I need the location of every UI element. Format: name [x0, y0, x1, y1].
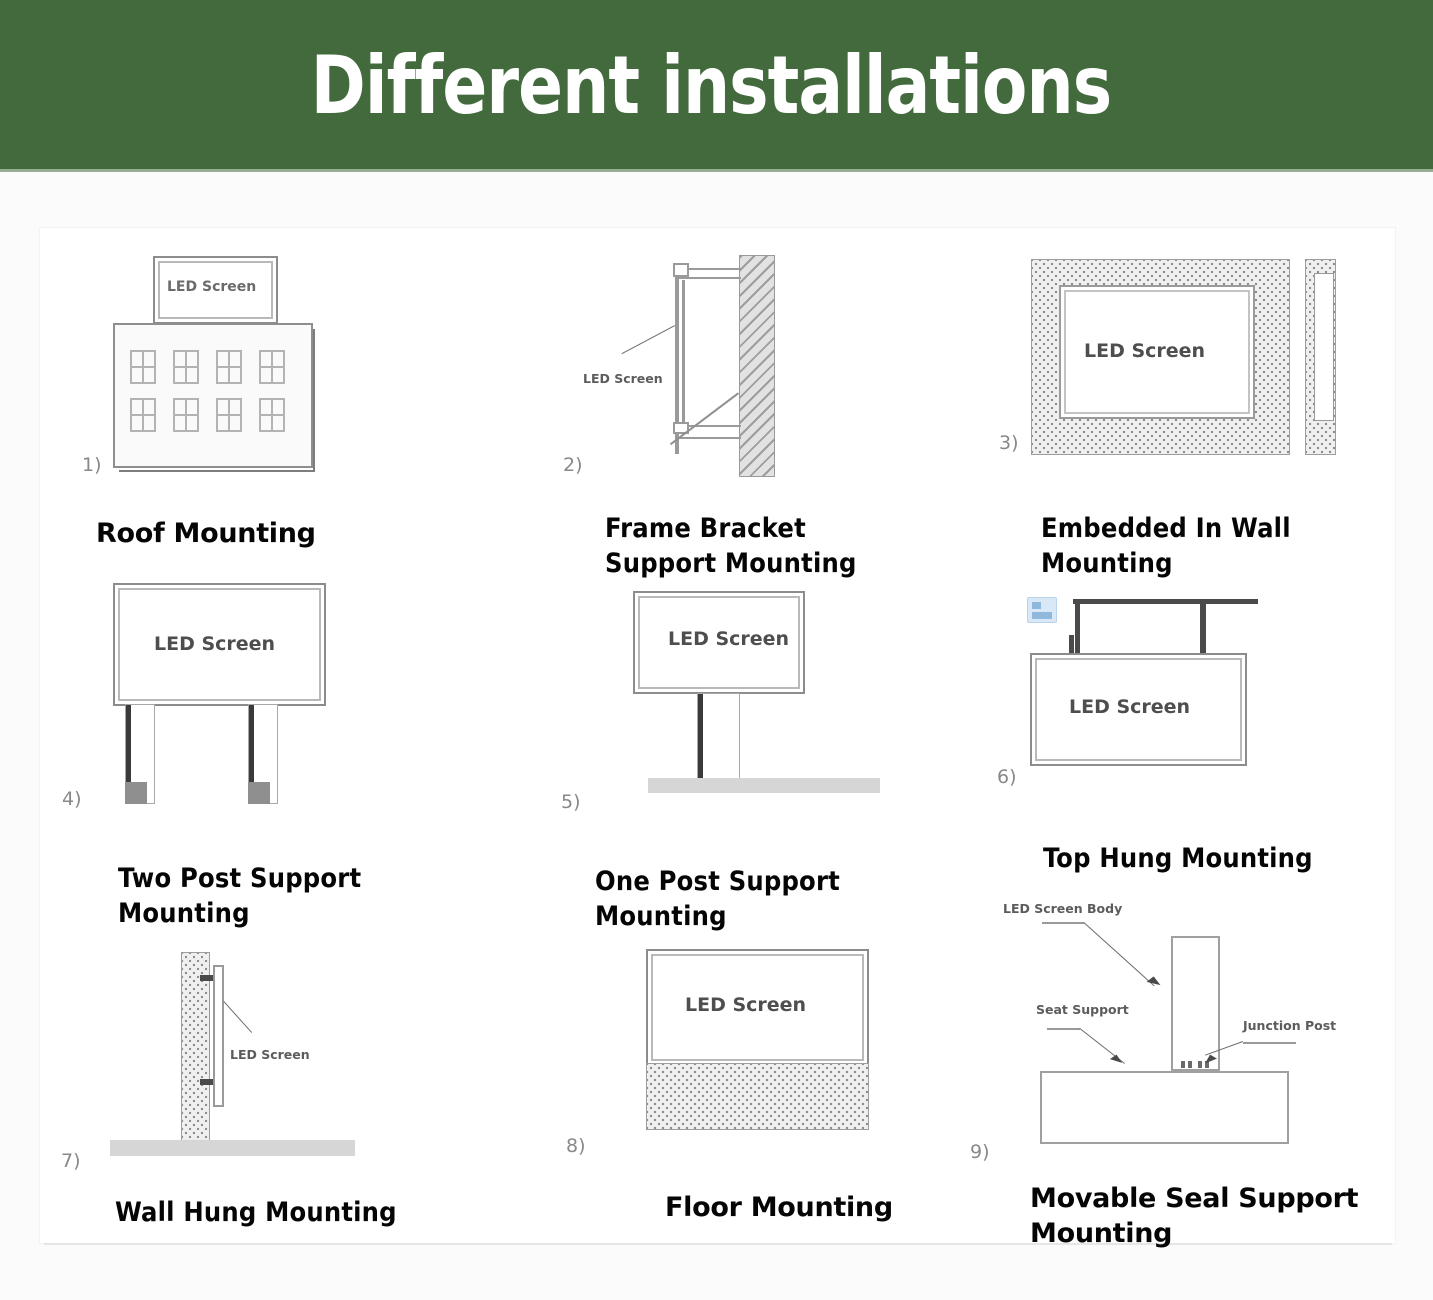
wall-mount-bracket-bottom: [200, 1079, 213, 1085]
led-screen-label: LED Screen: [1069, 696, 1190, 718]
led-screen-panel-edge: [682, 280, 685, 425]
figure-number: 4): [62, 788, 82, 810]
top-bracket-arm-lower: [679, 277, 741, 279]
annotation-arrow-seat: [1110, 1055, 1122, 1068]
figure-one-post-support-mounting: LED Screen 5) One Post Support Mounting: [520, 573, 990, 923]
wall-mount-bracket-top: [200, 975, 213, 981]
embedded-in-wall-drawing: LED Screen: [985, 228, 1385, 478]
ground-line: [110, 1140, 355, 1156]
figure-caption: Embedded In Wall Mounting: [1041, 511, 1291, 581]
figure-caption: Roof Mounting: [96, 516, 316, 551]
top-bracket-plate: [673, 263, 689, 277]
rooftop-screen-label: LED Screen: [167, 279, 256, 295]
figure-caption: One Post Support Mounting: [595, 864, 840, 934]
screen-side-profile: [1314, 273, 1334, 421]
top-hung-drawing: LED Screen: [985, 573, 1385, 833]
figure-number: 1): [82, 454, 102, 476]
hanger-right: [1200, 602, 1206, 654]
led-screen-label: LED Screen: [583, 371, 663, 386]
figure-caption: Movable Seal Support Mounting: [1030, 1181, 1358, 1251]
led-screen-label: LED Screen: [685, 994, 806, 1016]
wall-hung-drawing: LED Screen: [40, 928, 440, 1178]
figure-frame-bracket-support-mounting: LED Screen 2) Frame Bracket Support Moun…: [520, 228, 990, 588]
figure-number: 2): [563, 454, 583, 476]
annotation-arrow-body: [1147, 976, 1161, 990]
figure-caption: Floor Mounting: [665, 1190, 893, 1225]
annotation-underline-junction: [1243, 1042, 1296, 1044]
figure-caption: Frame Bracket Support Mounting: [605, 511, 857, 581]
wall-hatched: [739, 255, 775, 477]
figure-caption: Two Post Support Mounting: [118, 861, 361, 931]
two-post-drawing: LED Screen: [40, 573, 440, 833]
figure-number: 7): [61, 1150, 81, 1172]
figure-two-post-support-mounting: LED Screen 4) Two Post Support Mounting: [40, 573, 510, 923]
figure-movable-seal-support-mounting: LED Screen Body Seat Support Junction Po…: [985, 878, 1415, 1258]
header-banner: Different installations: [0, 0, 1433, 172]
led-screen-label: LED Screen: [230, 1047, 310, 1062]
annotation-underline-seat: [1047, 1028, 1080, 1030]
led-screen-panel: [213, 965, 224, 1107]
figure-number: 6): [997, 766, 1017, 788]
led-screen-label: LED Screen: [668, 628, 789, 650]
broken-image-icon: [1027, 597, 1057, 623]
floor-base-plinth: [646, 1063, 869, 1130]
annotation-leader-body: [1083, 922, 1154, 986]
led-screen-label: LED Screen: [154, 633, 275, 655]
figure-top-hung-mounting: LED Screen 6) Top Hung Mounting: [985, 573, 1405, 923]
installations-grid: LED Screen: [40, 228, 1395, 1268]
annotation-underline-body: [1042, 922, 1084, 924]
figure-caption: Top Hung Mounting: [1043, 841, 1313, 876]
led-screen-leader-line: [223, 1001, 252, 1033]
figure-caption: Wall Hung Mounting: [115, 1195, 397, 1230]
figure-number: 3): [999, 432, 1019, 454]
support-post-center: [697, 693, 740, 780]
hanger-short: [1069, 635, 1074, 655]
figure-number: 8): [566, 1135, 586, 1157]
hanger-left: [1075, 602, 1080, 654]
movable-seal-support-drawing: LED Screen Body Seat Support Junction Po…: [985, 878, 1415, 1178]
bottom-bracket-arm-lower: [675, 437, 741, 439]
page-title: Different installations: [311, 46, 1111, 126]
figure-embedded-in-wall-mounting: LED Screen 3) Embedded In Wall Mounting: [985, 228, 1405, 588]
figure-floor-mounting: LED Screen 8) Floor Mounting: [520, 928, 990, 1248]
figure-number: 9): [970, 1141, 990, 1163]
figure-wall-hung-mounting: LED Screen 7) Wall Hung Mounting: [40, 928, 510, 1248]
frame-bracket-drawing: LED Screen: [520, 228, 920, 488]
figure-number: 5): [561, 791, 581, 813]
annotation-junction-post: Junction Post: [1243, 1018, 1336, 1033]
seat-support-base: [1040, 1071, 1289, 1144]
ground-line: [648, 778, 880, 793]
ceiling-rail: [1073, 599, 1258, 604]
led-screen-leader-line: [622, 325, 675, 354]
figure-roof-mounting: LED Screen: [40, 228, 510, 558]
annotation-seat-support: Seat Support: [1036, 1002, 1129, 1017]
annotation-led-screen-body: LED Screen Body: [1003, 901, 1122, 916]
led-screen-label: LED Screen: [1084, 340, 1205, 362]
